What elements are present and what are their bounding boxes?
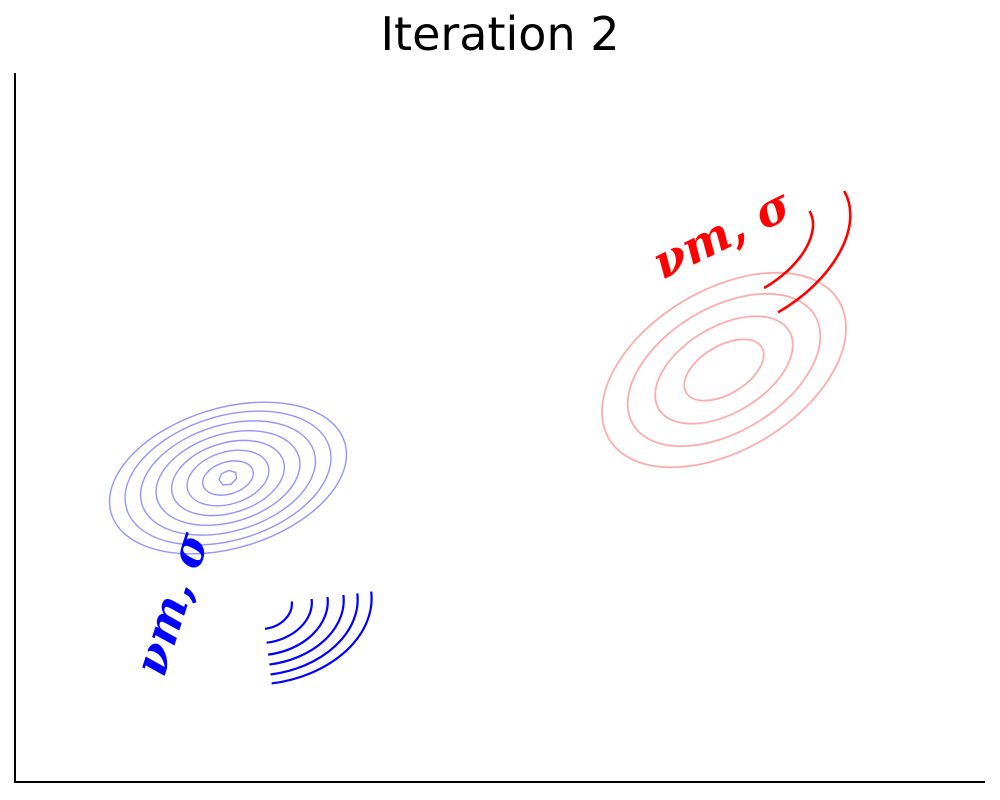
figure-canvas: Iteration 2 bbox=[0, 0, 1000, 800]
page-title: Iteration 2 bbox=[0, 6, 1000, 62]
plot-axes bbox=[14, 73, 985, 783]
